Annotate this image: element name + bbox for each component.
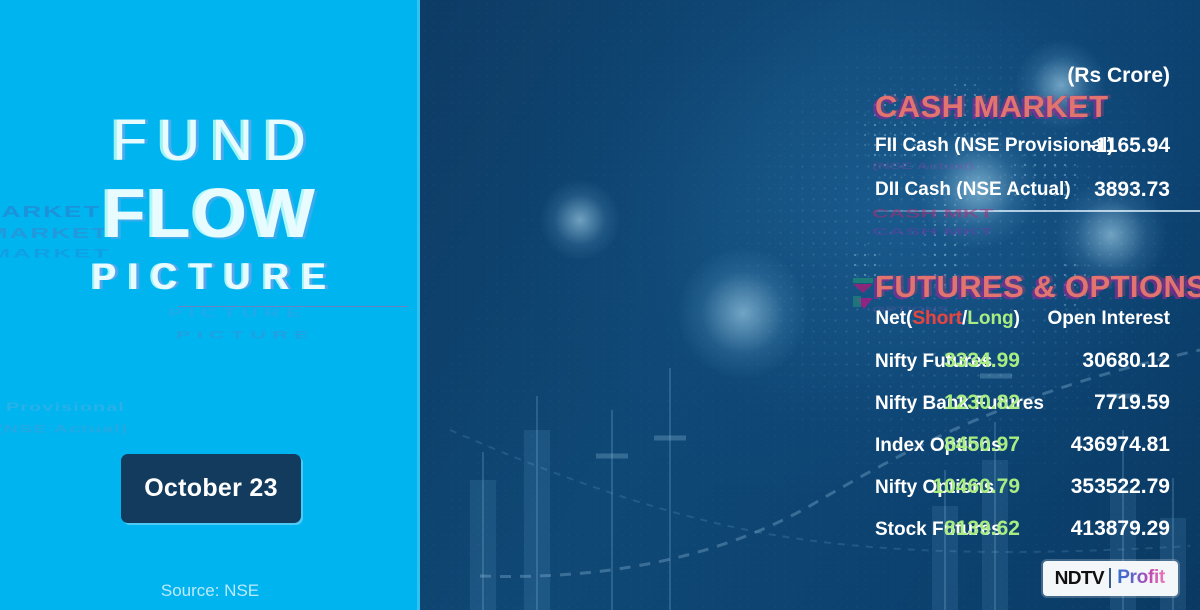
- fno-row-open-interest: 30680.12: [1082, 349, 1170, 373]
- fno-row-net: 3334.99: [944, 349, 1020, 373]
- page-title: FUND FLOW PICTURE: [0, 112, 420, 295]
- fno-row-net: 1230.82: [944, 391, 1020, 415]
- section-divider: [875, 210, 1200, 212]
- glitch-smear: PICTURE: [168, 306, 307, 320]
- cash-row-value: 3893.73: [1094, 178, 1170, 202]
- source-label: Source: NSE: [0, 581, 420, 601]
- net-long-label: Long: [967, 308, 1013, 329]
- title-line-flow: FLOW: [0, 178, 420, 248]
- fno-row-net: 8450.97: [944, 433, 1020, 457]
- logo-separator: [1109, 568, 1111, 588]
- glitch-line: [178, 306, 408, 307]
- logo-profit-text: Profit: [1117, 567, 1165, 589]
- data-panel: (Rs Crore) CASH MARKET FII Cash (NSE Pro…: [420, 0, 1200, 610]
- date-badge: October 23: [121, 454, 301, 523]
- futures-options-heading: FUTURES & OPTIONS: [875, 269, 1200, 305]
- glitch-smear: PICTURE: [176, 329, 315, 342]
- fno-row-open-interest: 353522.79: [1071, 475, 1170, 499]
- title-line-picture: PICTURE: [10, 258, 420, 295]
- fno-row-net: 10460.79: [932, 475, 1020, 499]
- net-prefix: Net(: [875, 308, 912, 329]
- glitch-smear: (NSE Actual): [0, 423, 128, 436]
- net-short-label: Short: [912, 308, 962, 329]
- date-label: October 23: [144, 474, 278, 503]
- glitch-smear: CASH MKT: [872, 225, 993, 237]
- cash-row-label: DII Cash (NSE Actual): [875, 179, 1071, 201]
- net-suffix: ): [1014, 308, 1020, 329]
- title-line-fund: FUND: [9, 112, 420, 170]
- branding-panel: MARKET MARKET MARKET Provisional (NSE Ac…: [0, 0, 420, 610]
- cash-row-value: -1165.94: [1088, 134, 1170, 158]
- fund-flow-picture-infographic: MARKET MARKET MARKET Provisional (NSE Ac…: [0, 0, 1200, 610]
- arrow-glitch-remnant: [852, 276, 876, 312]
- fno-row-open-interest: 7719.59: [1094, 391, 1170, 415]
- glitch-smear: (NSE Actual): [872, 161, 974, 172]
- unit-label: (Rs Crore): [1067, 64, 1170, 88]
- logo-ndtv-text: NDTV: [1054, 568, 1103, 589]
- column-header-net: Net(Short/Long): [875, 308, 1020, 330]
- cash-row-label: FII Cash (NSE Provisional): [875, 135, 1114, 157]
- fno-row-net: 8139.62: [944, 517, 1020, 541]
- glitch-smear: CASH MKT: [872, 207, 993, 221]
- fno-row-open-interest: 436974.81: [1071, 433, 1170, 457]
- cash-market-heading: CASH MARKET: [875, 89, 1108, 125]
- fno-row-open-interest: 413879.29: [1071, 517, 1170, 541]
- glitch-smear: Provisional: [6, 401, 125, 415]
- ndtv-profit-logo: NDTV Profit: [1043, 561, 1178, 596]
- column-header-open-interest: Open Interest: [1048, 308, 1170, 330]
